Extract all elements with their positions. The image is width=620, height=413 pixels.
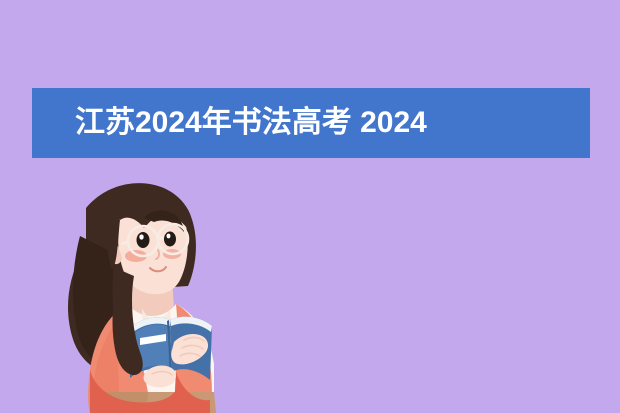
- title-banner: 江苏2024年书法高考 2024: [32, 88, 590, 158]
- woman-reading-book-illustration: [24, 158, 284, 413]
- eye-right: [164, 232, 176, 247]
- eye-left-highlight: [139, 234, 143, 239]
- image-canvas: 江苏2024年书法高考 2024: [0, 0, 620, 413]
- eye-left: [137, 232, 150, 248]
- eye-right-highlight: [167, 234, 171, 239]
- page-title: 江苏2024年书法高考 2024: [75, 108, 427, 138]
